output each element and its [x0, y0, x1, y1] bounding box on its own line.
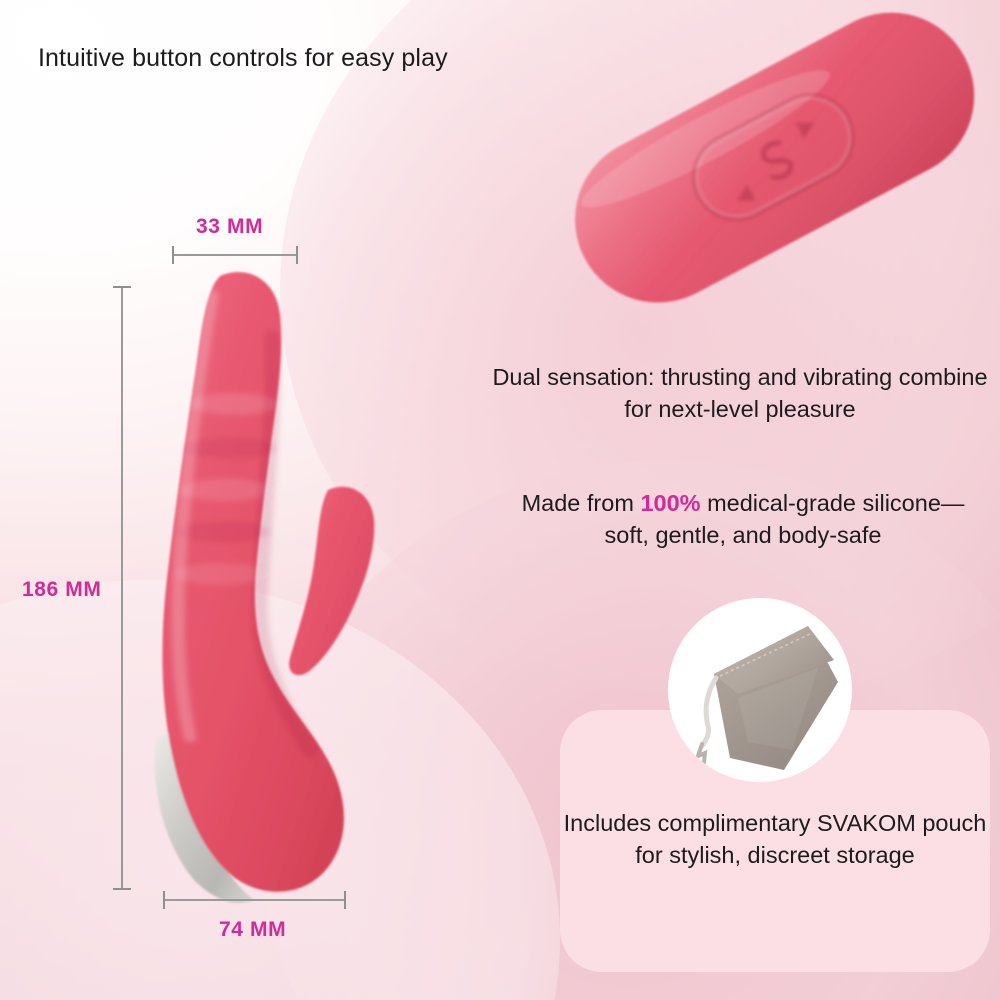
dimension-bar-width-bottom [163, 891, 346, 909]
pouch-drawstring [702, 678, 716, 746]
measure-cap-bottom [113, 888, 131, 890]
product-closeup-illustration [508, 0, 1000, 360]
product-clitoral-arm [289, 487, 374, 675]
dimension-label-height: 186 MM [22, 578, 101, 602]
pouch-illustration [668, 598, 852, 782]
measure-cap-left [172, 246, 174, 264]
dimension-bar-height [113, 286, 131, 890]
pouch-caption-text: Includes complimentary SVAKOM pouch for … [560, 808, 990, 872]
product-main-illustration [120, 268, 410, 908]
measure-cap-left [163, 891, 165, 909]
feature-dual-sensation-text: Dual sensation: thrusting and vibrating … [492, 362, 988, 426]
material-prefix: Made from [522, 490, 641, 516]
measure-cap-right [296, 246, 298, 264]
infographic-page: Intuitive button controls for easy play [0, 0, 1000, 1000]
material-highlight: 100% [640, 490, 700, 516]
measure-cap-top [113, 286, 131, 288]
feature-material-text: Made from 100% medical-grade silicone—so… [500, 488, 986, 552]
dimension-label-width-top: 33 MM [196, 215, 263, 239]
headline-text: Intuitive button controls for easy play [38, 44, 448, 73]
dimension-bar-width-top [172, 246, 298, 264]
pouch-photo-inset [668, 598, 852, 782]
measure-cap-right [344, 891, 346, 909]
dimension-label-width-bottom: 74 MM [219, 918, 286, 942]
